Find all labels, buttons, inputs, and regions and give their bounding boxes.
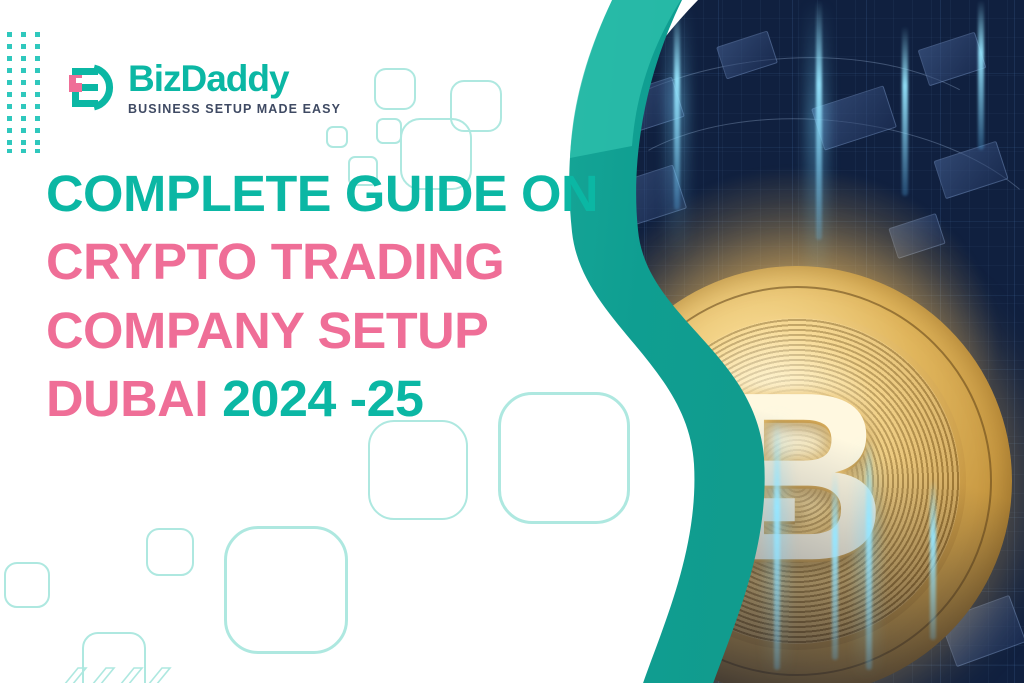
content-column: BizDaddy BUSINESS SETUP MADE EASY COMPLE… bbox=[0, 0, 600, 683]
headline-line-1: COMPLETE GUIDE ON bbox=[46, 160, 597, 228]
headline-line-3: COMPANY SETUP bbox=[46, 297, 597, 365]
headline-line-4-city: DUBAI bbox=[46, 370, 222, 427]
headline-block: COMPLETE GUIDE ON CRYPTO TRADING COMPANY… bbox=[46, 160, 586, 433]
brand-name: BizDaddy bbox=[128, 60, 341, 97]
promo-banner: Ƀ bbox=[0, 0, 1024, 683]
brand-logo[interactable]: BizDaddy BUSINESS SETUP MADE EASY bbox=[64, 60, 341, 116]
headline-line-2: CRYPTO TRADING bbox=[46, 228, 597, 296]
brand-tagline: BUSINESS SETUP MADE EASY bbox=[128, 103, 341, 116]
headline-line-4: DUBAI 2024 -25 bbox=[46, 365, 597, 433]
bizdaddy-b-logo-icon bbox=[64, 62, 116, 114]
headline-line-4-year: 2024 -25 bbox=[222, 370, 423, 427]
